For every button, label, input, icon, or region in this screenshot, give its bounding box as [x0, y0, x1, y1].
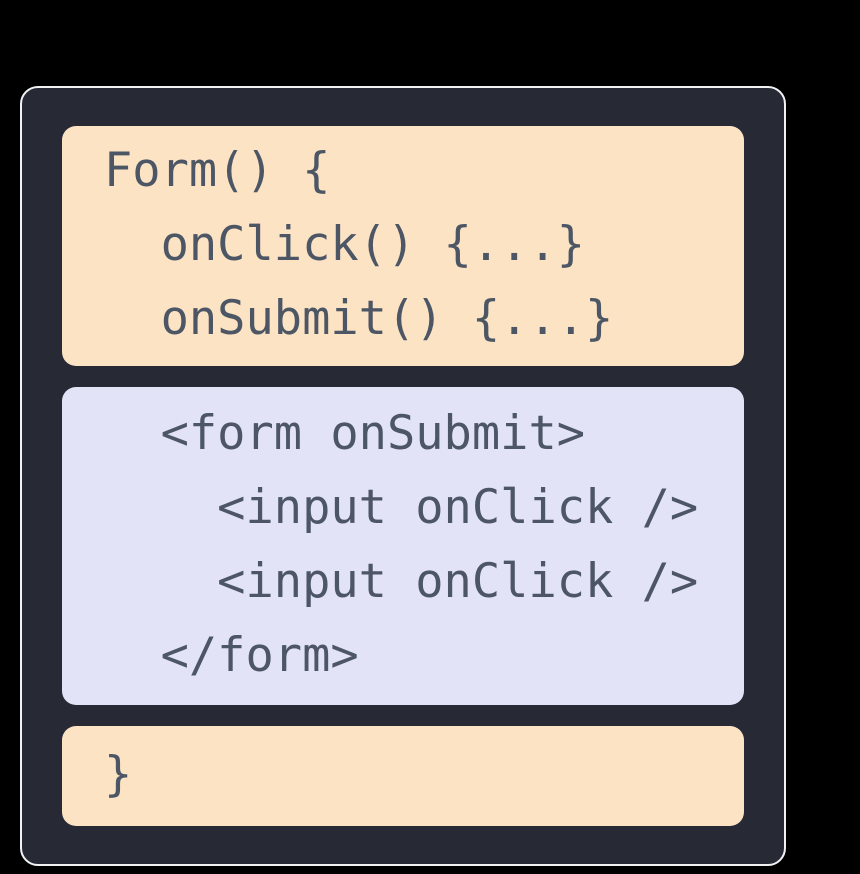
- diagram-canvas: Form() { onClick() {...} onSubmit() {...…: [0, 0, 860, 874]
- code-line: <input onClick />: [62, 545, 744, 619]
- code-card: Form() { onClick() {...} onSubmit() {...…: [20, 86, 786, 866]
- code-line: onSubmit() {...}: [62, 282, 744, 356]
- code-block-component-body-bottom[interactable]: }: [62, 726, 744, 826]
- code-block-component-body-top[interactable]: Form() { onClick() {...} onSubmit() {...…: [62, 126, 744, 366]
- code-line: }: [62, 743, 744, 807]
- code-line: </form>: [62, 619, 744, 693]
- code-line: Form() {: [62, 134, 744, 208]
- code-block-jsx-markup[interactable]: <form onSubmit> <input onClick /> <input…: [62, 387, 744, 705]
- code-line: onClick() {...}: [62, 208, 744, 282]
- code-line: <input onClick />: [62, 471, 744, 545]
- code-line: <form onSubmit>: [62, 397, 744, 471]
